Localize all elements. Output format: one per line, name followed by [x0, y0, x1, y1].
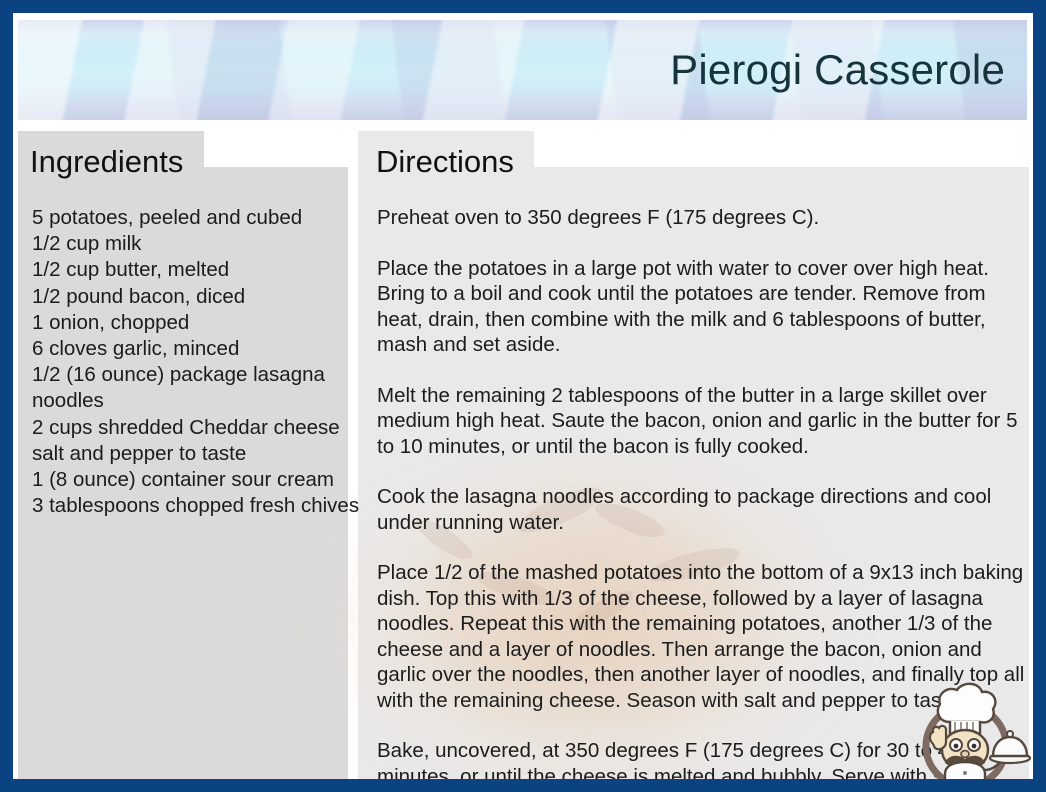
list-item: salt and pepper to taste: [32, 441, 362, 467]
list-item: Place the potatoes in a large pot with w…: [377, 256, 1032, 358]
list-item: Melt the remaining 2 tablespoons of the …: [377, 383, 1032, 460]
page-title: Pierogi Casserole: [670, 46, 1005, 94]
list-item: 5 potatoes, peeled and cubed: [32, 205, 362, 231]
directions-heading: Directions: [376, 146, 514, 179]
ingredients-tab: Ingredients: [18, 131, 204, 183]
directions-tab: Directions: [358, 131, 534, 183]
list-item: 1/2 (16 ounce) package lasagna noodles: [32, 362, 362, 414]
chef-logo-icon: [909, 674, 1031, 792]
list-item: 1 (8 ounce) container sour cream: [32, 467, 362, 493]
recipe-card: Pierogi Casserole Ingredients Directions…: [0, 0, 1046, 792]
list-item: 1 onion, chopped: [32, 310, 362, 336]
list-item: 3 tablespoons chopped fresh chives: [32, 493, 362, 519]
ingredients-heading: Ingredients: [30, 146, 183, 179]
list-item: 2 cups shredded Cheddar cheese: [32, 415, 362, 441]
list-item: Cook the lasagna noodles according to pa…: [377, 484, 1032, 535]
list-item: 1/2 pound bacon, diced: [32, 284, 362, 310]
list-item: 6 cloves garlic, minced: [32, 336, 362, 362]
list-item: 1/2 cup butter, melted: [32, 257, 362, 283]
list-item: 1/2 cup milk: [32, 231, 362, 257]
list-item: Preheat oven to 350 degrees F (175 degre…: [377, 205, 1032, 231]
title-banner: Pierogi Casserole: [18, 20, 1027, 120]
ingredients-list: 5 potatoes, peeled and cubed 1/2 cup mil…: [32, 205, 362, 519]
